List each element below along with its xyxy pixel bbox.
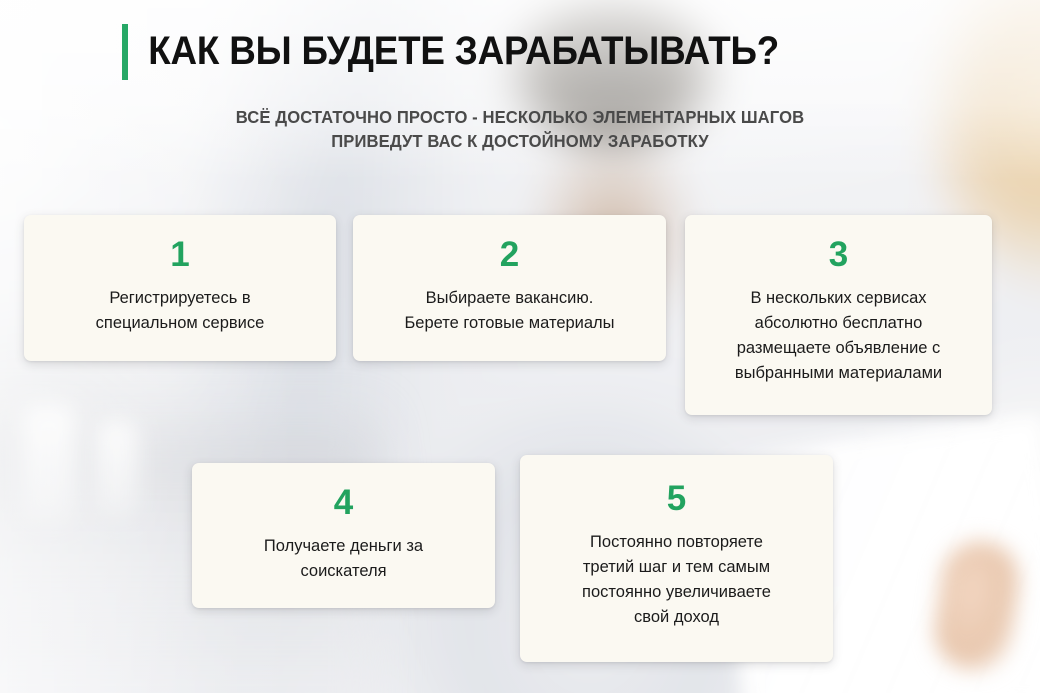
step-description-line: В нескольких сервисах [735,286,942,311]
step-description-line: третий шаг и тем самым [582,555,771,580]
slide-canvas: КАК ВЫ БУДЕТЕ ЗАРАБАТЫВАТЬ? ВСЁ ДОСТАТОЧ… [0,0,1040,693]
step-description: Регистрируетесь в специальном сервисе [96,286,265,336]
step-card-3[interactable]: 3 В нескольких сервисах абсолютно беспла… [685,215,992,415]
step-description-line: выбранными материалами [735,361,942,386]
title-row: КАК ВЫ БУДЕТЕ ЗАРАБАТЫВАТЬ? [122,22,836,80]
step-card-5[interactable]: 5 Постоянно повторяете третий шаг и тем … [520,455,833,662]
step-description-line: постоянно увеличиваете [582,580,771,605]
step-number: 2 [500,236,519,274]
step-description: В нескольких сервисах абсолютно бесплатн… [735,286,942,386]
page-subtitle-line-2: ПРИВЕДУТ ВАС К ДОСТОЙНОМУ ЗАРАБОТКУ [26,129,1014,153]
step-card-2[interactable]: 2 Выбираете вакансию. Берете готовые мат… [353,215,666,361]
step-description-line: Получаете деньги за [264,534,423,559]
step-description-line: Берете готовые материалы [404,311,614,336]
step-number: 3 [829,236,848,274]
step-card-1[interactable]: 1 Регистрируетесь в специальном сервисе [24,215,336,361]
page-title: КАК ВЫ БУДЕТЕ ЗАРАБАТЫВАТЬ? [128,22,779,80]
step-description-line: абсолютно бесплатно [735,311,942,336]
step-description-line: размещаете объявление с [735,336,942,361]
step-description-line: Выбираете вакансию. [404,286,614,311]
step-description: Постоянно повторяете третий шаг и тем са… [582,530,771,630]
step-number: 4 [334,484,353,522]
step-description-line: специальном сервисе [96,311,265,336]
step-description: Получаете деньги за соискателя [264,534,423,584]
page-subtitle-line-1: ВСЁ ДОСТАТОЧНО ПРОСТО - НЕСКОЛЬКО ЭЛЕМЕН… [26,105,1014,129]
step-description: Выбираете вакансию. Берете готовые матер… [404,286,614,336]
step-number: 5 [667,480,686,518]
step-number: 1 [170,236,189,274]
step-description-line: Регистрируетесь в [96,286,265,311]
step-description-line: Постоянно повторяете [582,530,771,555]
page-subtitle: ВСЁ ДОСТАТОЧНО ПРОСТО - НЕСКОЛЬКО ЭЛЕМЕН… [26,105,1014,153]
step-description-line: соискателя [264,559,423,584]
step-card-4[interactable]: 4 Получаете деньги за соискателя [192,463,495,608]
step-description-line: свой доход [582,605,771,630]
